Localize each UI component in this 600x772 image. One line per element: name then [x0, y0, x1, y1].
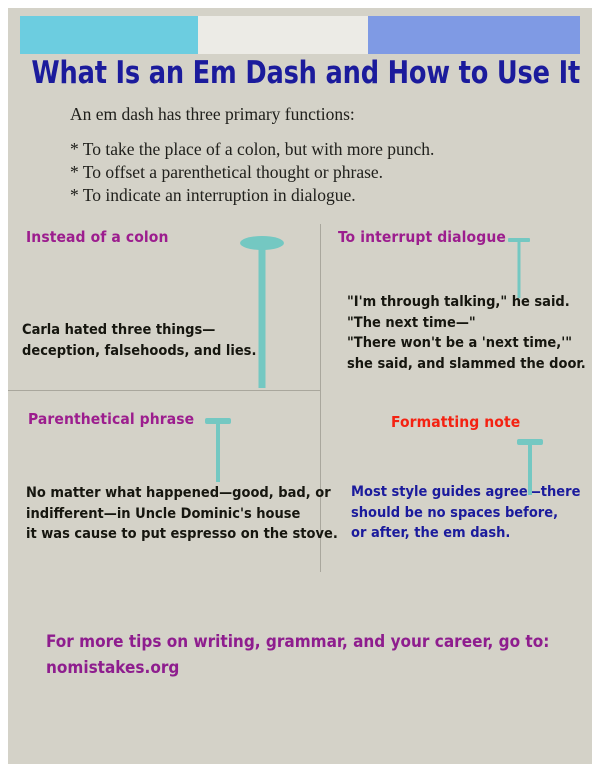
section-body-to-interrupt-dialogue: "I'm through talking," he said. "The nex… [347, 292, 586, 374]
pin-head [240, 236, 284, 250]
pin-icon [517, 439, 543, 495]
intro-bullet-3: * To indicate an interruption in dialogu… [70, 184, 570, 207]
body-line: she said, and slammed the door. [347, 354, 586, 375]
section-formatting-note: Formatting note Most style guides agree—… [321, 391, 592, 573]
body-line: Most style guides agree—there [351, 482, 580, 503]
intro-bullet-1: * To take the place of a colon, but with… [70, 138, 570, 161]
pin-stem [216, 421, 220, 482]
intro-bullet-2: * To offset a parenthetical thought or p… [70, 161, 570, 184]
intro-lead-text: An em dash has three primary functions: [70, 103, 570, 126]
footer-url[interactable]: nomistakes.org [46, 656, 566, 682]
pin-icon [508, 238, 530, 298]
body-line: or after, the em dash. [351, 523, 580, 544]
section-heading-instead-of-a-colon: Instead of a colon [26, 228, 168, 246]
body-line: "There won't be a 'next time,'" [347, 333, 586, 354]
banner-segment-cyan [20, 16, 198, 54]
body-line: deception, falsehoods, and lies. [22, 341, 256, 362]
section-heading-formatting-note: Formatting note [391, 413, 520, 431]
top-color-banner [20, 16, 580, 54]
pin-stem [259, 245, 266, 388]
banner-segment-ivory [198, 16, 368, 54]
infographic-canvas: What Is an Em Dash and How to Use It An … [8, 8, 592, 764]
pin-icon [205, 418, 231, 482]
body-line: No matter what happened—good, bad, or [26, 483, 338, 504]
infographic-poster: What Is an Em Dash and How to Use It An … [0, 0, 600, 772]
pin-head [205, 418, 231, 424]
section-heading-to-interrupt-dialogue: To interrupt dialogue [338, 228, 506, 246]
section-body-parenthetical-phrase: No matter what happened—good, bad, or in… [26, 483, 338, 545]
section-heading-parenthetical-phrase: Parenthetical phrase [28, 410, 194, 428]
body-line: "The next time—" [347, 313, 586, 334]
body-line: should be no spaces before, [351, 503, 580, 524]
pin-head [517, 439, 543, 445]
banner-segment-blue [368, 16, 580, 54]
body-line: "I'm through talking," he said. [347, 292, 586, 313]
intro-block: An em dash has three primary functions: … [70, 103, 570, 207]
footer-cta: For more tips on writing, grammar, and y… [46, 630, 566, 681]
section-body-formatting-note: Most style guides agree—there should be … [351, 482, 580, 544]
section-body-instead-of-a-colon: Carla hated three things— deception, fal… [22, 320, 256, 361]
section-to-interrupt-dialogue: To interrupt dialogue "I'm through talki… [321, 224, 592, 390]
body-line: it was cause to put espresso on the stov… [26, 524, 338, 545]
section-parenthetical-phrase: Parenthetical phrase No matter what happ… [8, 391, 320, 573]
pin-head [508, 238, 530, 242]
pin-stem [528, 442, 532, 495]
body-line: indifferent—in Uncle Dominic's house [26, 504, 338, 525]
pin-icon [240, 236, 284, 388]
body-line: Carla hated three things— [22, 320, 256, 341]
footer-line-1: For more tips on writing, grammar, and y… [46, 630, 566, 656]
pin-stem [518, 240, 521, 298]
page-title: What Is an Em Dash and How to Use It [31, 55, 568, 91]
